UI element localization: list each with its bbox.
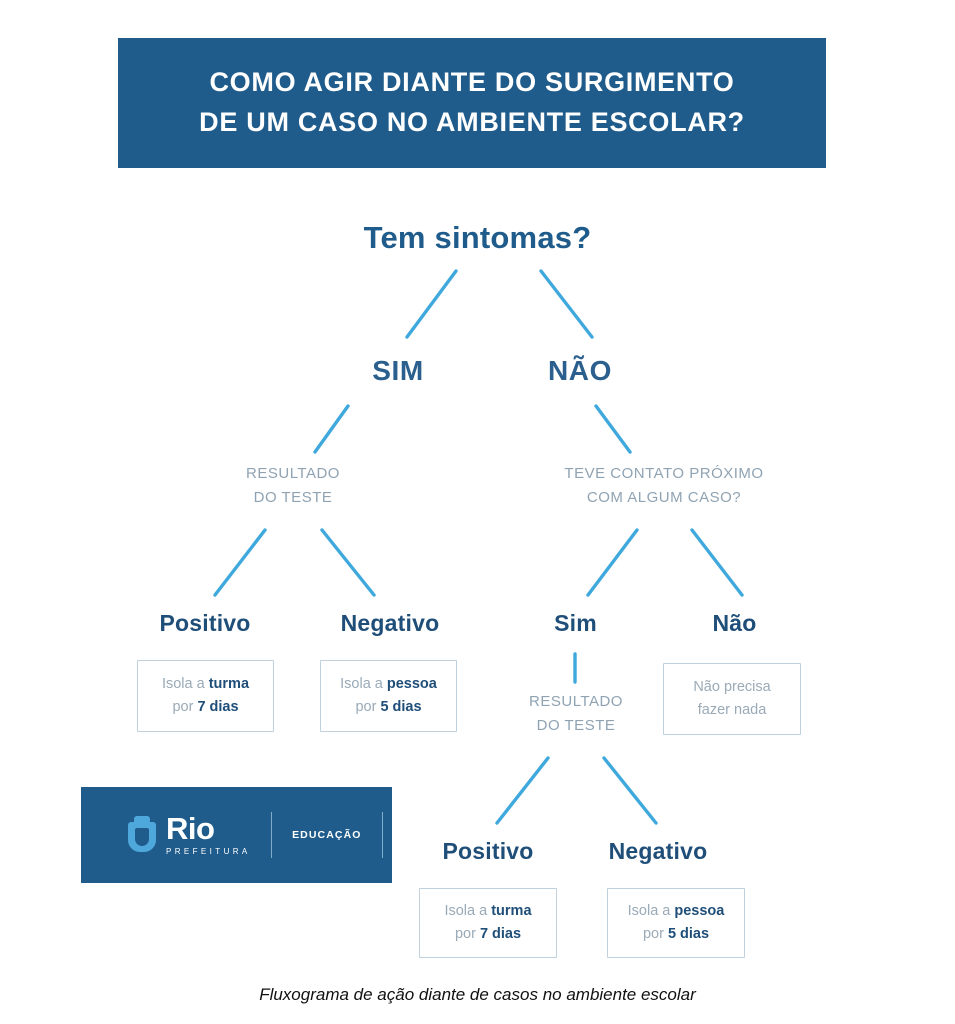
outcome-box-positivo-left: Isola a turmapor 7 dias [137, 660, 274, 732]
wire-root-to-nao [541, 271, 592, 337]
logo-inner: Rio PREFEITURA EDUCAÇÃO SAÚDE [125, 812, 445, 858]
logo-tag-educacao: EDUCAÇÃO [292, 829, 361, 841]
logo-tag-saude: SAÚDE [403, 829, 445, 841]
rio-prefeitura-logo-bar: Rio PREFEITURA EDUCAÇÃO SAÚDE [81, 787, 392, 883]
branch-label-negativo-bottom: Negativo [578, 838, 738, 865]
sublabel-resultado-do-teste-left: RESULTADO DO TESTE [193, 462, 393, 511]
branch-label-negativo-left: Negativo [310, 610, 470, 637]
rio-wordmark: Rio PREFEITURA [166, 814, 251, 856]
outcome-text-positivo-left: Isola a turmapor 7 dias [162, 673, 249, 720]
wire-sim-to-resultado [315, 406, 348, 452]
branch-label-nao: NÃO [500, 355, 660, 387]
logo-divider-1 [271, 812, 272, 858]
outcome-box-positivo-bottom: Isola a turmapor 7 dias [419, 888, 557, 958]
rio-label: Rio [166, 814, 251, 843]
outcome-text-negativo-left: Isola a pessoapor 5 dias [340, 673, 437, 720]
wire-nao-to-contato [596, 406, 630, 452]
figure-caption: Fluxograma de ação diante de casos no am… [0, 985, 955, 1005]
branch-label-sim-right: Sim [498, 610, 653, 637]
outcome-text-positivo-bottom: Isola a turmapor 7 dias [444, 900, 531, 947]
prefeitura-label: PREFEITURA [166, 847, 251, 856]
flowchart-poster: COMO AGIR DIANTE DO SURGIMENTO DE UM CAS… [0, 0, 955, 1024]
banner-line-1: COMO AGIR DIANTE DO SURGIMENTO [209, 65, 734, 101]
wire-root-to-sim [407, 271, 456, 337]
wire-contato-to-nao [692, 530, 742, 595]
wire-res-to-negativo [322, 530, 374, 595]
outcome-box-nao-precisa-fazer-nada: Não precisafazer nada [663, 663, 801, 735]
sublabel-resultado-do-teste-right: RESULTADO DO TESTE [476, 690, 676, 739]
outcome-box-negativo-bottom: Isola a pessoapor 5 dias [607, 888, 745, 958]
outcome-text-nao-precisa-fazer-nada: Não precisafazer nada [693, 676, 770, 723]
wire-res2-to-negativo [604, 758, 656, 823]
sublabel-teve-contato-proximo: TEVE CONTATO PRÓXIMO COM ALGUM CASO? [524, 462, 804, 511]
outcome-text-negativo-bottom: Isola a pessoapor 5 dias [628, 900, 725, 947]
banner-line-2: DE UM CASO NO AMBIENTE ESCOLAR? [199, 105, 745, 141]
wire-res2-to-positivo [497, 758, 548, 823]
branch-label-positivo-left: Positivo [125, 610, 285, 637]
logo-divider-2 [382, 812, 383, 858]
wire-contato-to-sim [588, 530, 637, 595]
outcome-box-negativo-left: Isola a pessoapor 5 dias [320, 660, 457, 732]
wire-res-to-positivo [215, 530, 265, 595]
root-question: Tem sintomas? [0, 220, 955, 256]
rio-crest-icon [125, 816, 159, 854]
branch-label-nao-right: Não [657, 610, 812, 637]
branch-label-sim: SIM [318, 355, 478, 387]
title-banner: COMO AGIR DIANTE DO SURGIMENTO DE UM CAS… [118, 38, 826, 168]
